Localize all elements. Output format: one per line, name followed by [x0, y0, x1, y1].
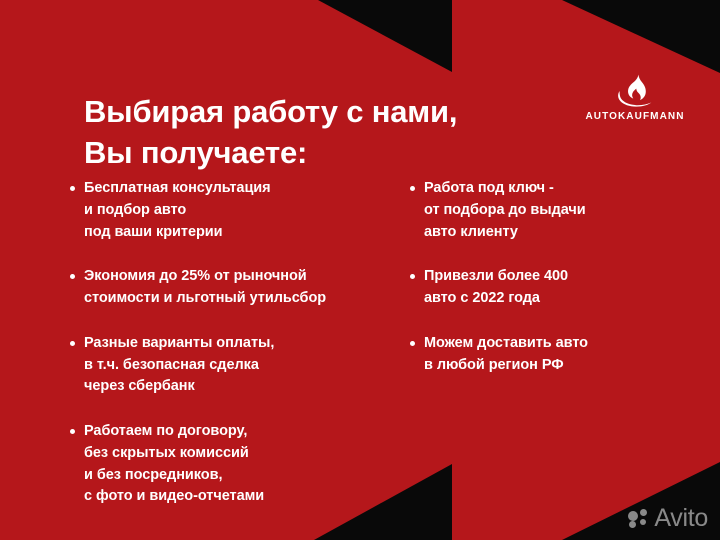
list-item-label: Бесплатная консультация и подбор авто по…: [84, 178, 271, 243]
list-item: Привезли более 400 авто с 2022 года: [410, 266, 670, 310]
list-item-label: Работаем по договору, без скрытых комисс…: [84, 421, 264, 508]
bullet-dot-icon: [410, 274, 415, 279]
list-item-label: Работа под ключ - от подбора до выдачи а…: [424, 178, 586, 243]
list-item: Разные варианты оплаты, в т.ч. безопасна…: [70, 333, 410, 398]
avito-wordmark: Avito: [654, 506, 708, 531]
bullet-dot-icon: [70, 341, 75, 346]
avito-watermark: Avito: [628, 506, 708, 531]
avito-dots-icon: [628, 508, 649, 529]
benefits-left-column: Бесплатная консультация и подбор авто по…: [70, 178, 410, 531]
bullet-dot-icon: [70, 274, 75, 279]
flame-swoosh-icon: [615, 74, 655, 108]
bullet-dot-icon: [410, 186, 415, 191]
list-item: Бесплатная консультация и подбор авто по…: [70, 178, 410, 243]
brand-wordmark: AUTOKAUFMANN: [583, 111, 687, 122]
list-item: Можем доставить авто в любой регион РФ: [410, 333, 670, 377]
decor-wedge-top-center: [318, 0, 452, 72]
benefits-right-column: Работа под ключ - от подбора до выдачи а…: [410, 178, 670, 399]
bullet-dot-icon: [70, 186, 75, 191]
list-item-label: Можем доставить авто в любой регион РФ: [424, 333, 588, 377]
list-item: Работа под ключ - от подбора до выдачи а…: [410, 178, 670, 243]
brand-logo: AUTOKAUFMANN: [583, 74, 687, 122]
list-item: Работаем по договору, без скрытых комисс…: [70, 421, 410, 508]
bullet-dot-icon: [70, 429, 75, 434]
list-item-label: Разные варианты оплаты, в т.ч. безопасна…: [84, 333, 274, 398]
list-item: Экономия до 25% от рыночной стоимости и …: [70, 266, 410, 310]
page-title: Выбирая работу с нами, Вы получаете:: [84, 91, 554, 173]
decor-wedge-top-right: [562, 0, 720, 73]
bullet-dot-icon: [410, 341, 415, 346]
benefits-columns: Бесплатная консультация и подбор авто по…: [70, 178, 670, 531]
promo-banner: Выбирая работу с нами, Вы получаете: AUT…: [0, 0, 720, 540]
list-item-label: Экономия до 25% от рыночной стоимости и …: [84, 266, 326, 310]
list-item-label: Привезли более 400 авто с 2022 года: [424, 266, 568, 310]
